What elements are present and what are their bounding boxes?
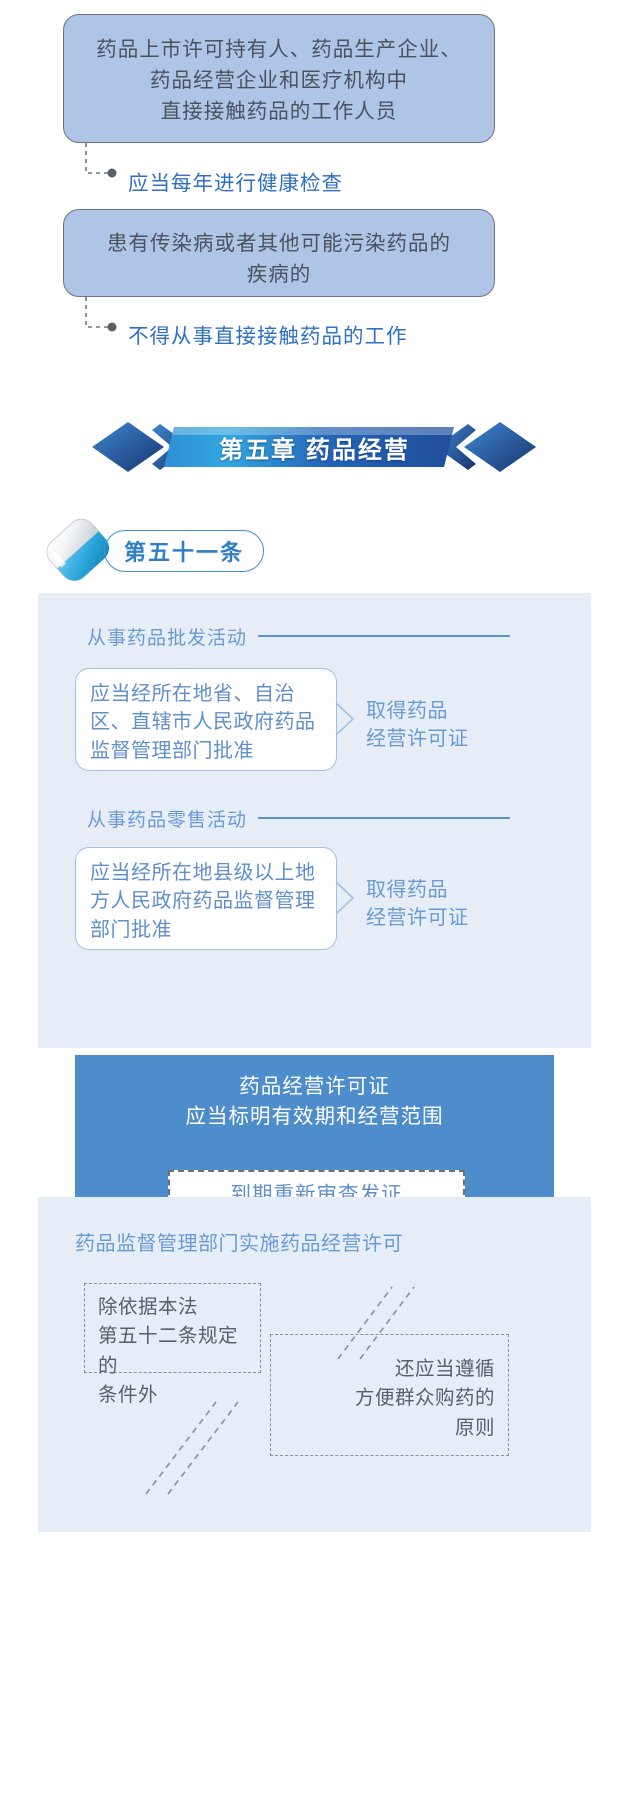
certificate-line: 药品经营许可证 [75,1072,554,1102]
approval-condition-line: 除依据本法 [98,1293,247,1322]
approval-condition-box: 除依据本法 第五十二条规定的 条件外 [84,1283,261,1373]
approval-principle-box: 还应当遵循 方便群众购药的 原则 [270,1334,509,1456]
approval-principle-line: 原则 [284,1414,495,1443]
approval-principle-line: 方便群众购药的 [284,1384,495,1413]
outcome-line: 取得药品 [366,876,469,904]
slash-decoration-bottom [138,1398,258,1503]
article-number-label: 第五十一条 [104,530,264,572]
statement-line: 直接接触药品的工作人员 [64,97,494,128]
callout-retail-condition: 应当经所在地县级以上地方人民政府药品监督管理部门批准 [75,847,337,950]
outcome-retail: 取得药品 经营许可证 [366,876,469,933]
statement-line: 疾病的 [64,260,494,291]
connector-dotted-1 [82,143,134,183]
outcome-wholesale: 取得药品 经营许可证 [366,697,469,754]
statement-box-personnel: 药品上市许可持有人、药品生产企业、 药品经营企业和医疗机构中 直接接触药品的工作… [63,14,495,143]
outcome-line: 取得药品 [366,697,469,725]
connector-dotted-2 [82,297,134,337]
sub-head-retail: 从事药品零售活动 [87,805,247,832]
sub-head-wholesale: 从事药品批发活动 [87,623,247,650]
callout-arrow-icon [335,881,361,915]
approval-heading: 药品监督管理部门实施药品经营许可 [75,1227,403,1256]
statement-line: 药品上市许可持有人、药品生产企业、 [64,35,494,66]
article-header: 第五十一条 [28,508,288,588]
result-prohibited-work: 不得从事直接接触药品的工作 [128,319,408,349]
outcome-line: 经营许可证 [366,904,469,932]
callout-arrow-icon [335,702,361,736]
result-health-check: 应当每年进行健康检查 [128,166,343,196]
sub-head-rule [258,635,510,637]
chapter-banner [88,418,540,476]
statement-line: 患有传染病或者其他可能污染药品的 [64,229,494,260]
certificate-text: 药品经营许可证 应当标明有效期和经营范围 [75,1072,554,1131]
statement-box-disease: 患有传染病或者其他可能污染药品的 疾病的 [63,209,495,297]
approval-principle-line: 还应当遵循 [284,1355,495,1384]
outcome-line: 经营许可证 [366,725,469,753]
sub-head-rule [258,817,510,819]
statement-line: 药品经营企业和医疗机构中 [64,66,494,97]
approval-condition-line: 第五十二条规定的 [98,1322,247,1381]
callout-wholesale-condition: 应当经所在地省、自治区、直辖市人民政府药品监督管理部门批准 [75,668,337,771]
certificate-line: 应当标明有效期和经营范围 [75,1102,554,1132]
